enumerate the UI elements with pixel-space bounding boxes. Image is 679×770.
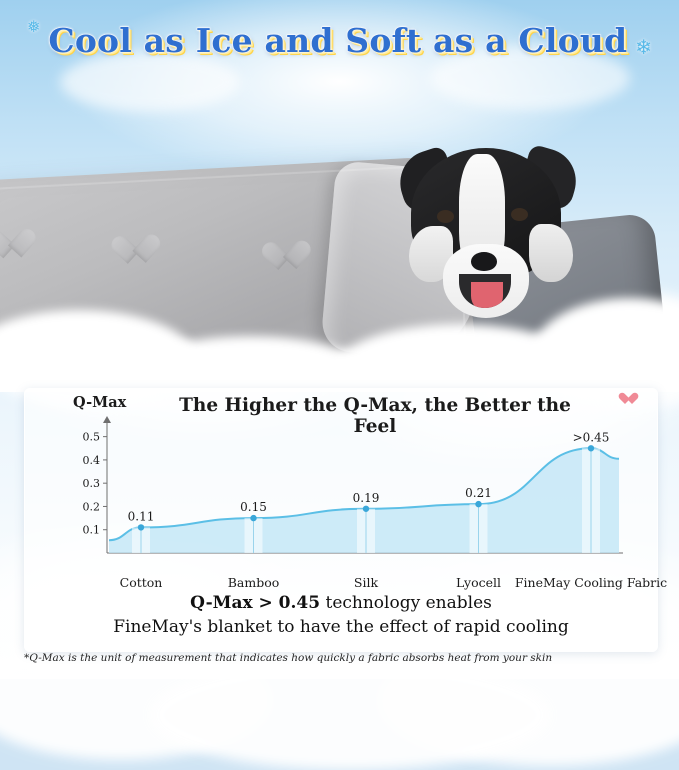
svg-text:0.21: 0.21 xyxy=(465,486,492,500)
subtitle-line-1: Q-Max > 0.45 technology enables xyxy=(25,593,657,613)
chart-svg: 0.10.20.30.40.50.110.150.190.21>0.45 xyxy=(65,415,625,575)
svg-text:0.19: 0.19 xyxy=(353,491,380,505)
dog-cheek-right xyxy=(529,224,573,282)
dog-tongue xyxy=(471,282,503,308)
dog-eye-right xyxy=(511,208,528,221)
heart-icon xyxy=(622,393,635,405)
cloud-puff xyxy=(150,660,550,770)
heart-quilt-pattern xyxy=(0,230,29,262)
x-axis-label-3: Silk xyxy=(354,575,378,590)
svg-text:>0.45: >0.45 xyxy=(573,430,610,444)
x-axis-tick-labels: CottonBambooSilkLyocellFineMay Cooling F… xyxy=(51,575,641,595)
svg-text:0.1: 0.1 xyxy=(83,524,101,537)
chart-footnote: *Q-Max is the unit of measurement that i… xyxy=(24,652,656,664)
dog-nose xyxy=(471,252,497,271)
svg-text:0.3: 0.3 xyxy=(83,477,101,490)
product-photo xyxy=(0,72,679,392)
page-title: Cool as Ice and Soft as a Cloud xyxy=(48,21,627,60)
dog-eye-left xyxy=(437,210,454,223)
dog xyxy=(393,148,583,338)
heart-quilt-pattern xyxy=(118,236,154,268)
qmax-area-chart: 0.10.20.30.40.50.110.150.190.21>0.45 xyxy=(65,415,625,575)
svg-text:0.15: 0.15 xyxy=(240,500,267,514)
svg-text:0.4: 0.4 xyxy=(83,454,101,467)
snowflake-icon: ❄ xyxy=(635,38,652,58)
x-axis-label-2: Bamboo xyxy=(228,575,280,590)
snowflake-icon: ❅ xyxy=(27,20,40,36)
qmax-chart-panel: Q-Max The Higher the Q-Max, the Better t… xyxy=(24,388,658,652)
subtitle-strong: Q-Max > 0.45 xyxy=(190,593,320,613)
x-axis-label-5: FineMay Cooling Fabric xyxy=(515,575,667,590)
x-axis-label-1: Cotton xyxy=(120,575,163,590)
x-axis-label-4: Lyocell xyxy=(456,575,501,590)
heart-quilt-pattern xyxy=(269,242,305,274)
svg-text:0.11: 0.11 xyxy=(128,509,155,523)
subtitle-line-2: FineMay's blanket to have the effect of … xyxy=(25,617,657,637)
subtitle-rest: technology enables xyxy=(320,593,492,613)
svg-text:0.2: 0.2 xyxy=(83,500,101,513)
svg-text:0.5: 0.5 xyxy=(83,431,101,444)
headline-banner: ❅ Cool as Ice and Soft as a Cloud ❄ xyxy=(0,0,679,80)
y-axis-caption: Q-Max xyxy=(73,394,126,411)
